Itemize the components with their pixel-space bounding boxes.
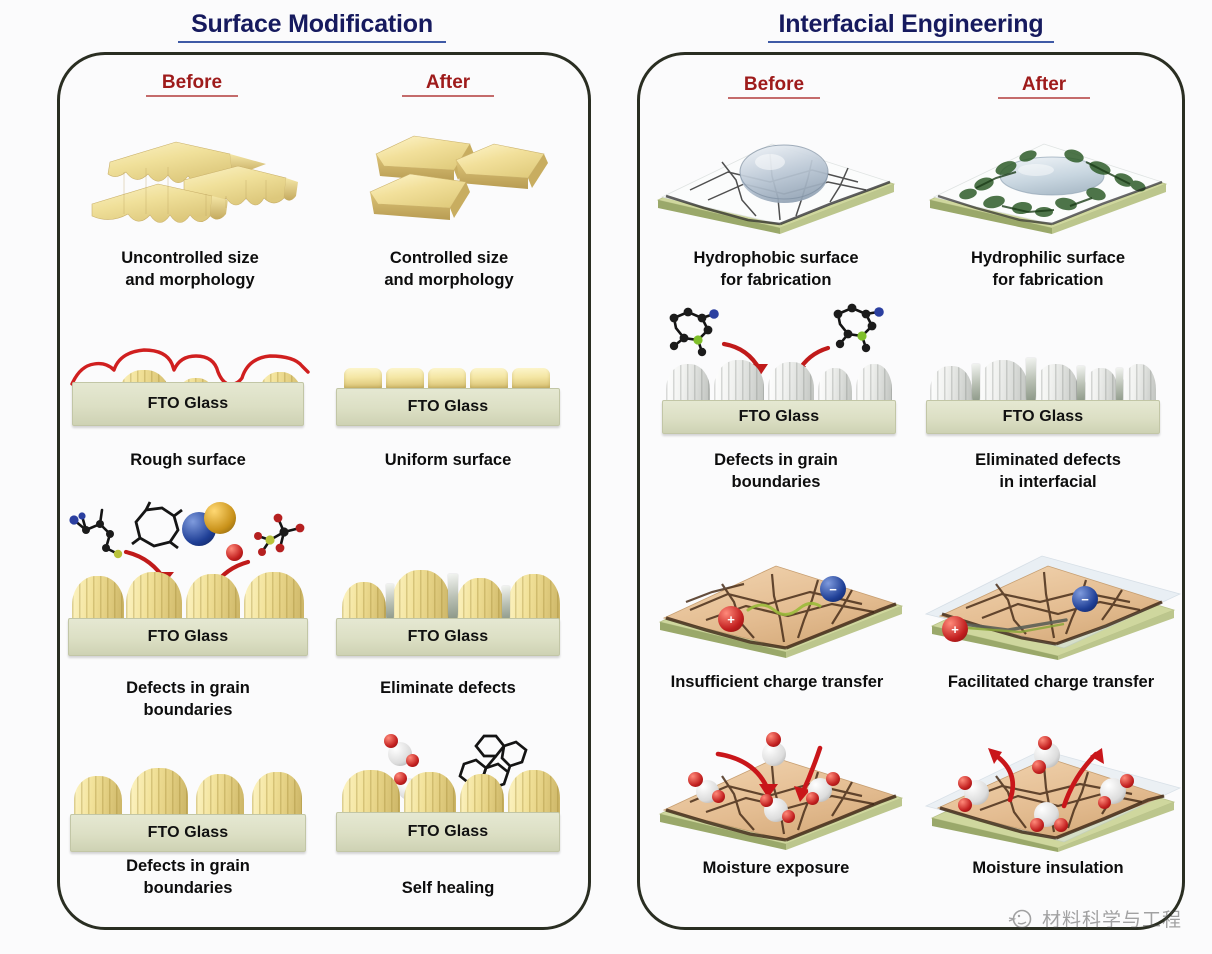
art-plate-spread-droplet	[924, 128, 1172, 234]
charge-label-positive: +	[718, 606, 744, 632]
caption-defects-grain-boundaries-left: Defects in grain boundaries	[62, 678, 314, 722]
watermark-logo-icon	[1007, 908, 1035, 930]
substrate-label: FTO Glass	[148, 824, 229, 842]
art-gold-crystals-irregular	[80, 118, 300, 236]
charge-sphere-positive: +	[942, 616, 968, 642]
substrate-slab-self-healing: FTO Glass	[336, 812, 560, 852]
panel-title-interfacial-engineering: Interfacial Engineering	[768, 10, 1054, 43]
art-self-healing-grains	[342, 764, 560, 818]
panel-title-surface-modification: Surface Modification	[178, 10, 446, 43]
art-uniform-blocks	[342, 364, 554, 390]
caption-defects-grain-boundaries-right: Defects in grain boundaries	[650, 450, 902, 494]
caption-rough-surface: Rough surface	[72, 450, 304, 472]
art-cracked-film-charges: + −	[652, 548, 912, 660]
substrate-slab-eliminate-defects: FTO Glass	[336, 618, 560, 656]
charge-label-negative: −	[820, 576, 846, 602]
caption-self-healing: Self healing	[336, 878, 560, 900]
caption-hydrophilic-surface: Hydrophilic surface for fabrication	[922, 248, 1174, 292]
ion-sphere-red	[226, 544, 243, 561]
substrate-label: FTO Glass	[148, 395, 229, 413]
watermark-text: 材料科学与工程	[1042, 905, 1182, 932]
charge-sphere-negative: −	[820, 576, 846, 602]
caption-eliminated-defects: Eliminated defects in interfacial	[922, 450, 1174, 494]
charge-sphere-positive: +	[718, 606, 744, 632]
art-plate-beaded-droplet	[652, 128, 900, 234]
substrate-label: FTO Glass	[408, 398, 489, 416]
caption-uniform-surface: Uniform surface	[336, 450, 560, 472]
substrate-slab-defects-bottom: FTO Glass	[70, 814, 306, 852]
substrate-label: FTO Glass	[1003, 408, 1084, 426]
substrate-label: FTO Glass	[148, 628, 229, 646]
caption-defects-grain-boundaries-bottom: Defects in grain boundaries	[62, 856, 314, 900]
caption-hydrophobic-surface: Hydrophobic surface for fabrication	[650, 248, 902, 292]
watermark: 材料科学与工程	[1007, 905, 1182, 932]
caption-controlled-size: Controlled size and morphology	[336, 248, 562, 292]
substrate-label: FTO Glass	[408, 823, 489, 841]
caption-facilitated-charge-transfer: Facilitated charge transfer	[918, 672, 1184, 694]
column-head-left-before: Before	[140, 72, 244, 97]
caption-eliminate-defects: Eliminate defects	[336, 678, 560, 700]
substrate-slab-eliminated-defects: FTO Glass	[926, 400, 1160, 434]
art-cracked-film-charges-layer: + −	[924, 548, 1184, 660]
caption-moisture-insulation: Moisture insulation	[922, 858, 1174, 880]
art-defective-grains	[74, 766, 302, 818]
caption-uncontrolled-size: Uncontrolled size and morphology	[70, 248, 310, 292]
substrate-slab-rough: FTO Glass	[72, 382, 304, 426]
column-head-left-after: After	[396, 72, 500, 97]
caption-insufficient-charge-transfer: Insufficient charge transfer	[644, 672, 910, 694]
charge-sphere-negative: −	[1072, 586, 1098, 612]
figure-root: Surface Modification Interfacial Enginee…	[0, 0, 1212, 954]
ion-sphere-gold	[204, 502, 236, 534]
substrate-label: FTO Glass	[408, 628, 489, 646]
charge-label-positive: +	[942, 616, 968, 642]
charge-label-negative: −	[1072, 586, 1098, 612]
substrate-slab-uniform: FTO Glass	[336, 388, 560, 426]
substrate-label: FTO Glass	[739, 408, 820, 426]
substrate-slab-defects-left: FTO Glass	[68, 618, 308, 656]
caption-moisture-exposure: Moisture exposure	[650, 858, 902, 880]
art-water-repelled-arrows-up	[924, 728, 1184, 852]
art-gold-ingots-faceted	[358, 126, 554, 234]
art-water-ingress-arrows-down	[652, 728, 912, 852]
column-head-right-before: Before	[722, 74, 826, 99]
column-head-right-after: After	[992, 74, 1096, 99]
substrate-slab-defects-right: FTO Glass	[662, 400, 896, 434]
